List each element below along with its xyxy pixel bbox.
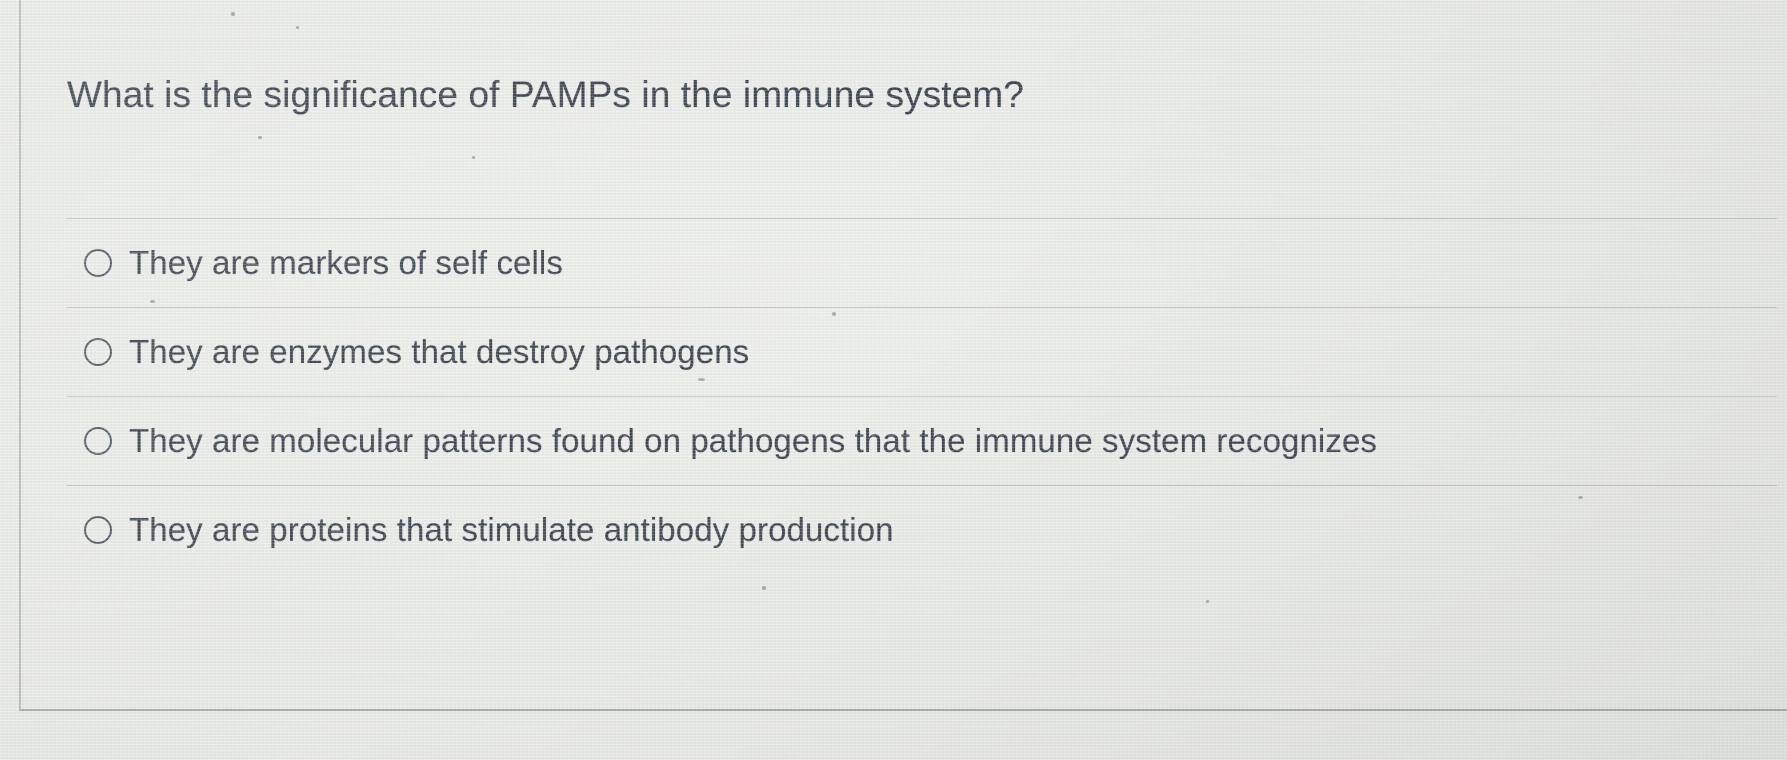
option-label-2: They are enzymes that destroy pathogens	[129, 332, 749, 372]
option-row-1[interactable]: They are markers of self cells	[67, 218, 1777, 307]
option-row-4[interactable]: They are proteins that stimulate antibod…	[67, 485, 1777, 574]
radio-unchecked-icon[interactable]	[84, 249, 112, 277]
page-title: What is the significance of PAMPs in the…	[67, 72, 1024, 118]
option-label-4: They are proteins that stimulate antibod…	[129, 510, 894, 550]
radio-unchecked-icon[interactable]	[84, 516, 112, 544]
answer-options-list: They are markers of self cells They are …	[67, 218, 1777, 574]
question-card: What is the significance of PAMPs in the…	[19, 0, 1787, 711]
radio-unchecked-icon[interactable]	[84, 338, 112, 366]
option-label-3: They are molecular patterns found on pat…	[129, 421, 1377, 461]
radio-unchecked-icon[interactable]	[84, 427, 112, 455]
option-row-2[interactable]: They are enzymes that destroy pathogens	[67, 307, 1777, 396]
photographed-screen: What is the significance of PAMPs in the…	[0, 0, 1787, 760]
option-label-1: They are markers of self cells	[129, 243, 563, 283]
option-row-3[interactable]: They are molecular patterns found on pat…	[67, 396, 1777, 485]
